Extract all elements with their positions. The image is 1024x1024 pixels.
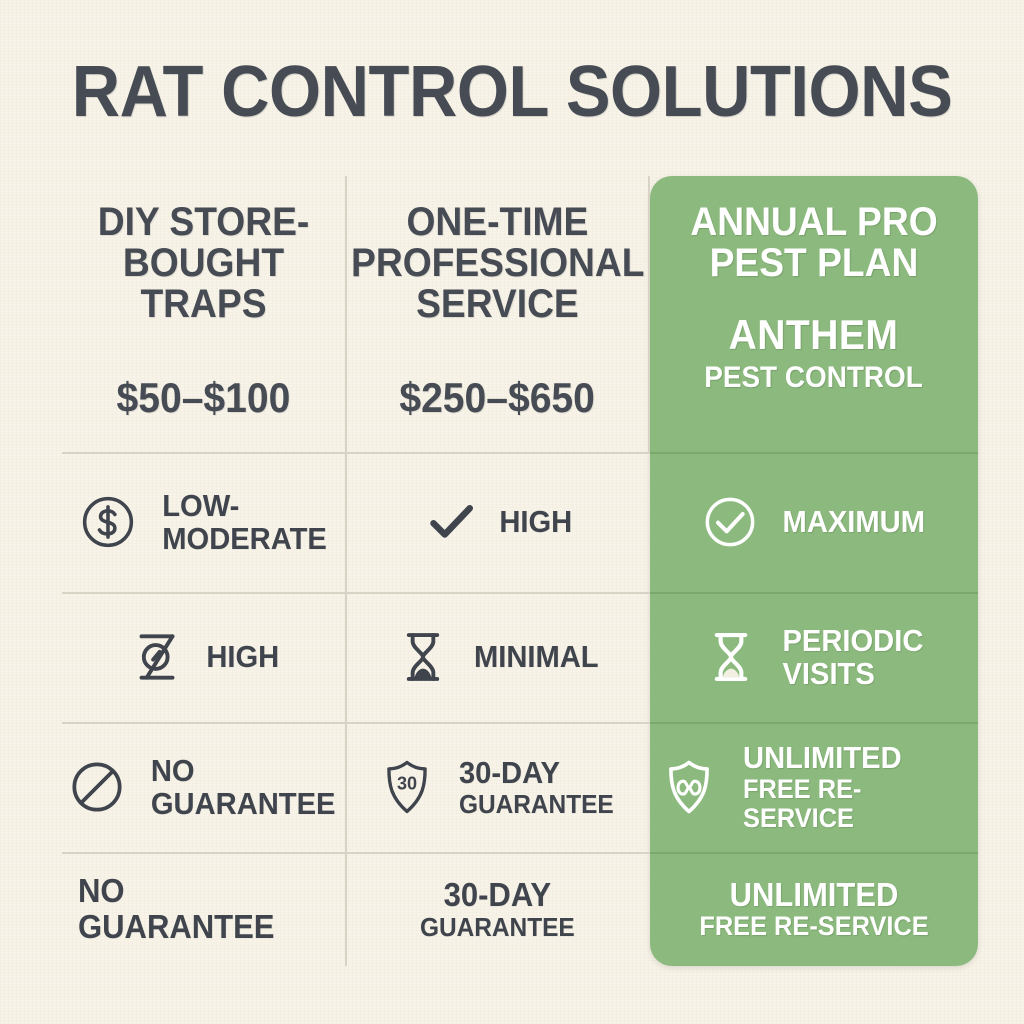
shield-30-icon: 30 (376, 756, 438, 818)
cell-guarantee-annual: UNLIMITEDFREE RE-SERVICE (650, 722, 978, 852)
cell-guarantee-diy: NOGUARANTEE (62, 722, 345, 852)
hourglass-icon (700, 626, 762, 688)
cell-summary-one-time-label: 30-DAYGUARANTEE (420, 877, 575, 941)
cell-summary-diy-label: NO GUARANTEE (78, 873, 329, 944)
column-title-annual: ANNUAL PRO PEST PLAN (669, 202, 959, 284)
cell-time-one-time: MINIMAL (345, 592, 650, 722)
cell-summary-one-time: 30-DAYGUARANTEE (345, 852, 650, 966)
cell-summary-diy: NO GUARANTEE (62, 852, 345, 966)
cell-effort-annual: MAXIMUM (650, 452, 978, 592)
prohibition-icon (65, 755, 129, 819)
cell-effort-one-time-label: HIGH (499, 505, 572, 538)
infographic-page: RAT CONTROL SOLUTIONS DIY STORE-BOUGHT T… (0, 0, 1024, 1024)
checkmark-icon (421, 492, 481, 552)
comparison-grid: DIY STORE-BOUGHT TRAPS $50–$100 ONE-TIME… (62, 176, 978, 966)
svg-text:30: 30 (397, 774, 417, 794)
column-price-diy: $50–$100 (117, 374, 291, 422)
brand-block: ANTHEM PEST CONTROL (696, 314, 931, 396)
cell-time-diy: HIGH (62, 592, 345, 722)
column-price-one-time: $250–$650 (400, 374, 596, 422)
cell-time-diy-label: HIGH (206, 640, 279, 673)
cell-time-one-time-label: MINIMAL (474, 640, 599, 673)
column-header-annual: ANNUAL PRO PEST PLAN ANTHEM PEST CONTROL (650, 176, 978, 452)
brand-subtitle: PEST CONTROL (705, 360, 924, 396)
cell-summary-annual: UNLIMITEDFREE RE-SERVICE (650, 852, 978, 966)
cell-effort-diy-label: LOW-MODERATE (162, 489, 327, 556)
column-title-one-time: ONE-TIME PROFESSIONAL SERVICE (351, 202, 644, 324)
cell-effort-one-time: HIGH (345, 452, 650, 592)
hourglass-slash-icon (126, 626, 188, 688)
check-circle-icon (698, 490, 762, 554)
cell-effort-diy: LOW-MODERATE (62, 452, 345, 592)
shield-infinity-icon (658, 756, 720, 818)
cell-time-annual-label: PERIODICVISITS (783, 624, 924, 691)
column-header-one-time: ONE-TIME PROFESSIONAL SERVICE $250–$650 (345, 176, 650, 452)
cell-time-annual: PERIODICVISITS (650, 592, 978, 722)
hourglass-icon (392, 626, 454, 688)
column-header-diy: DIY STORE-BOUGHT TRAPS $50–$100 (62, 176, 345, 452)
cell-guarantee-annual-label: UNLIMITEDFREE RE-SERVICE (743, 741, 963, 833)
cell-guarantee-one-time: 30 30-DAYGUARANTEE (345, 722, 650, 852)
dollar-circle-icon (75, 489, 141, 555)
cell-effort-annual-label: MAXIMUM (783, 505, 925, 538)
cell-guarantee-diy-label: NOGUARANTEE (151, 754, 336, 821)
column-title-diy: DIY STORE-BOUGHT TRAPS (79, 202, 327, 324)
cell-summary-annual-label: UNLIMITEDFREE RE-SERVICE (699, 877, 928, 942)
brand-name: ANTHEM (705, 314, 924, 356)
cell-guarantee-one-time-label: 30-DAYGUARANTEE (459, 756, 614, 818)
page-title: RAT CONTROL SOLUTIONS (36, 56, 988, 128)
